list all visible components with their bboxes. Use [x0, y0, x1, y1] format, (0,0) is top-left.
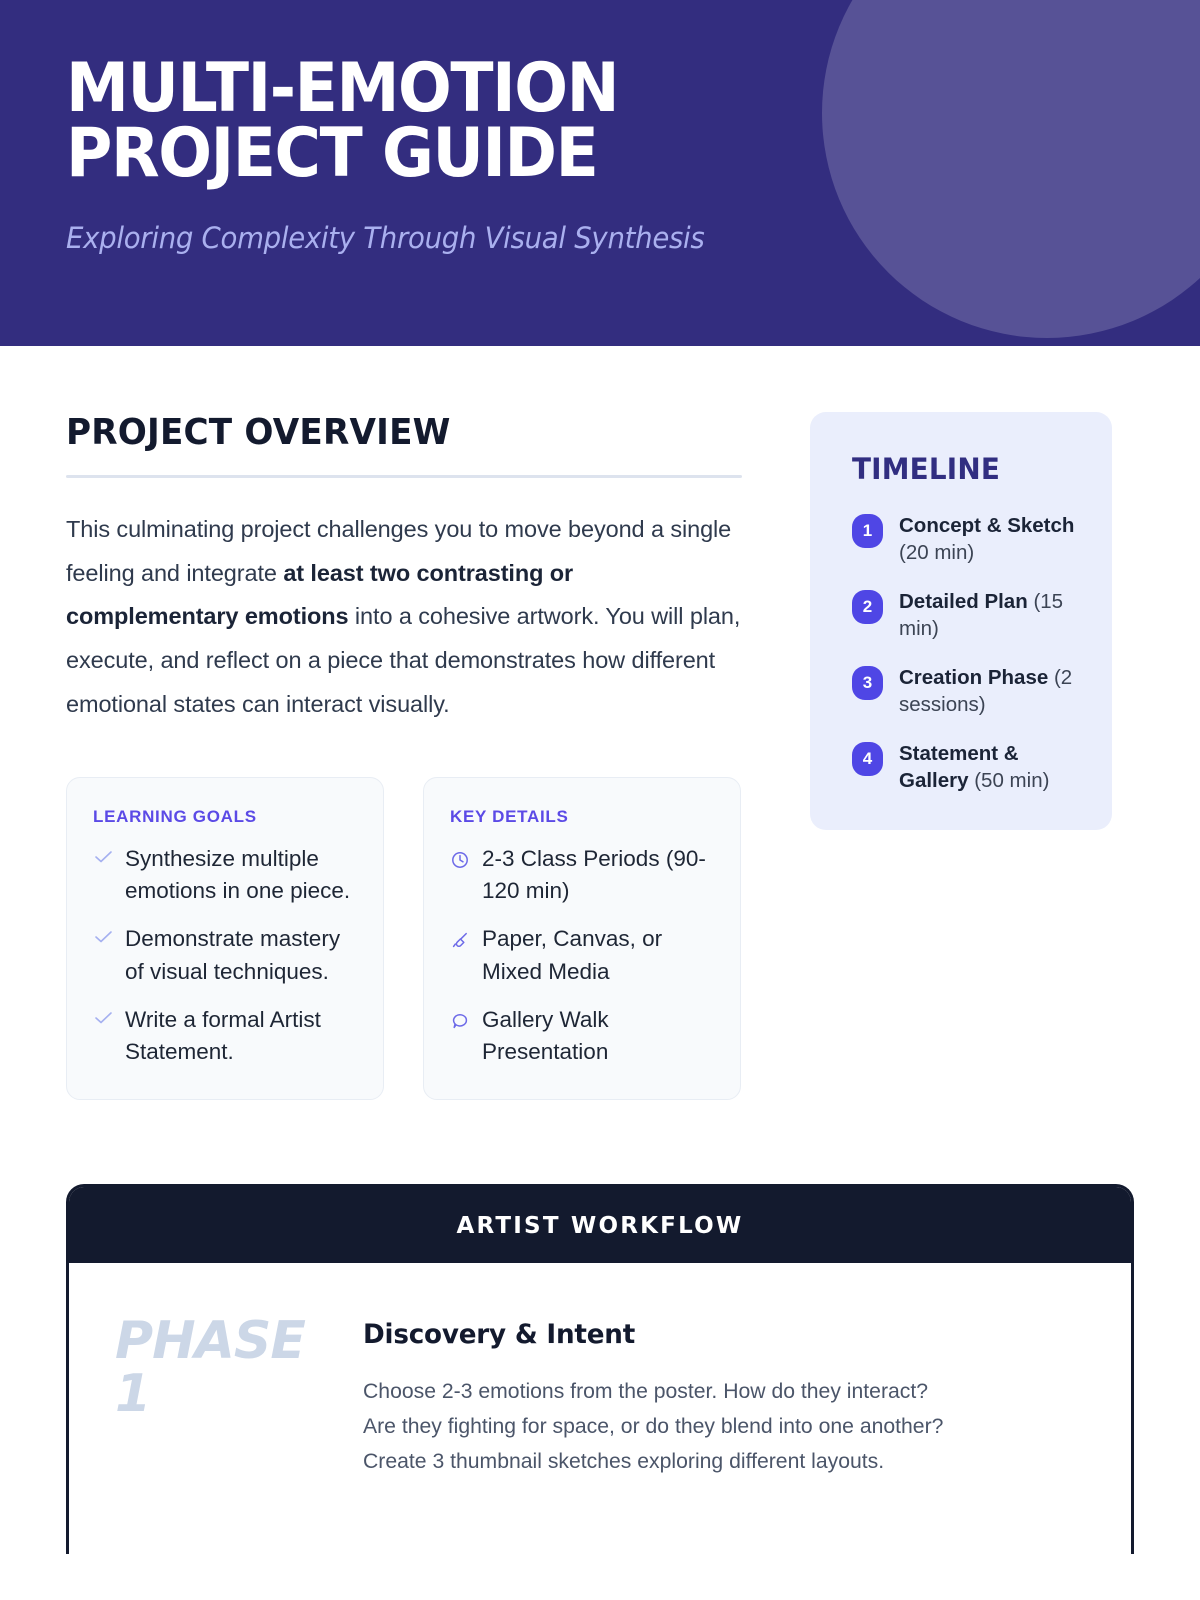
timeline-item: 1 Concept & Sketch (20 min): [852, 512, 1084, 566]
check-icon: [93, 923, 113, 943]
phase-label: PHASE 1: [115, 1315, 363, 1478]
list-item: 2-3 Class Periods (90-120 min): [450, 843, 714, 908]
list-item: Paper, Canvas, or Mixed Media: [450, 923, 714, 988]
timeline-step-badge: 3: [852, 666, 883, 700]
timeline-item-label: Concept & Sketch: [899, 514, 1074, 537]
list-item: Synthesize multiple emotions in one piec…: [93, 843, 357, 908]
learning-goals-card: LEARNING GOALS Synthesize multiple emoti…: [66, 777, 384, 1100]
timeline-item-duration: (20 min): [899, 541, 974, 564]
speech-bubble-icon: [450, 1004, 470, 1030]
timeline-item-text: Creation Phase (2 sessions): [899, 664, 1084, 718]
artist-workflow-card: ARTIST WORKFLOW PHASE 1 Discovery & Inte…: [66, 1184, 1134, 1554]
list-item-label: 2-3 Class Periods (90-120 min): [482, 843, 714, 908]
timeline-item-text: Concept & Sketch (20 min): [899, 512, 1084, 566]
overview-column: PROJECT OVERVIEW This culminating projec…: [66, 412, 742, 1100]
section-divider: [66, 475, 742, 478]
timeline-column: TIMELINE 1 Concept & Sketch (20 min) 2 D…: [810, 412, 1112, 830]
timeline-title: TIMELINE: [852, 452, 1075, 486]
key-details-card: KEY DETAILS 2-3 Class Periods (90-120 mi…: [423, 777, 741, 1100]
list-item: Gallery Walk Presentation: [450, 1004, 714, 1069]
timeline-item-label: Detailed Plan: [899, 590, 1028, 613]
main-content: PROJECT OVERVIEW This culminating projec…: [0, 346, 1200, 1554]
artist-workflow-header: ARTIST WORKFLOW: [69, 1187, 1131, 1263]
timeline-step-badge: 1: [852, 514, 883, 548]
overview-paragraph: This culminating project challenges you …: [66, 508, 742, 727]
page-header: MULTI-EMOTION PROJECT GUIDE Exploring Co…: [0, 0, 1200, 346]
paintbrush-icon: [450, 923, 470, 949]
timeline-item-text: Detailed Plan (15 min): [899, 588, 1084, 642]
workflow-phase-row: PHASE 1 Discovery & Intent Choose 2-3 em…: [69, 1263, 1131, 1478]
timeline-item-text: Statement & Gallery (50 min): [899, 740, 1084, 794]
check-icon: [93, 843, 113, 863]
learning-goals-title: LEARNING GOALS: [93, 807, 357, 827]
timeline-step-badge: 4: [852, 742, 883, 776]
timeline-card: TIMELINE 1 Concept & Sketch (20 min) 2 D…: [810, 412, 1112, 830]
clock-icon: [450, 843, 470, 869]
page-title: MULTI-EMOTION PROJECT GUIDE: [66, 56, 1121, 187]
timeline-item-duration: (50 min): [974, 769, 1049, 792]
list-item-label: Synthesize multiple emotions in one piec…: [125, 843, 357, 908]
list-item-label: Gallery Walk Presentation: [482, 1004, 714, 1069]
section-heading-project-overview: PROJECT OVERVIEW: [66, 412, 708, 453]
timeline-item: 3 Creation Phase (2 sessions): [852, 664, 1084, 718]
timeline-item: 4 Statement & Gallery (50 min): [852, 740, 1084, 794]
phase-title: Discovery & Intent: [363, 1319, 1063, 1350]
list-item: Demonstrate mastery of visual techniques…: [93, 923, 357, 988]
list-item-label: Write a formal Artist Statement.: [125, 1004, 357, 1069]
key-details-title: KEY DETAILS: [450, 807, 714, 827]
timeline-item: 2 Detailed Plan (15 min): [852, 588, 1084, 642]
list-item-label: Demonstrate mastery of visual techniques…: [125, 923, 357, 988]
timeline-step-badge: 2: [852, 590, 883, 624]
list-item-label: Paper, Canvas, or Mixed Media: [482, 923, 714, 988]
page-subtitle: Exploring Complexity Through Visual Synt…: [66, 221, 1143, 255]
list-item: Write a formal Artist Statement.: [93, 1004, 357, 1069]
timeline-item-label: Creation Phase: [899, 666, 1048, 689]
phase-description: Choose 2-3 emotions from the poster. How…: [363, 1374, 1074, 1478]
check-icon: [93, 1004, 113, 1024]
